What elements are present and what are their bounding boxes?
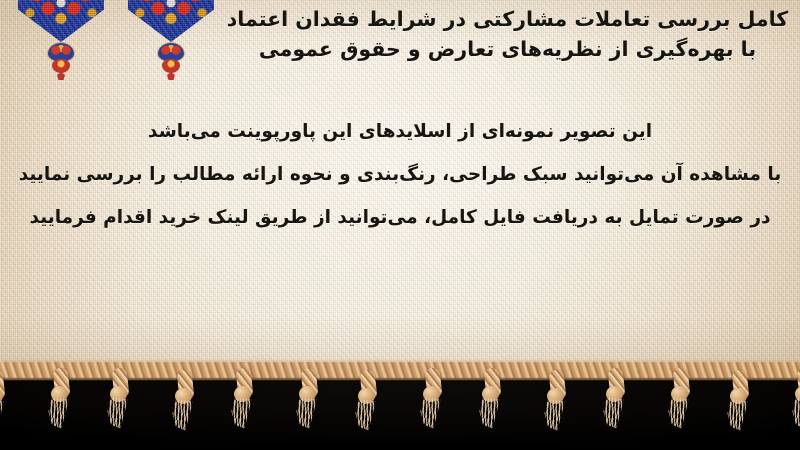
tassel-frayed-threads	[541, 399, 566, 431]
tassel-frayed-threads	[476, 397, 501, 429]
fringe-tassel	[793, 368, 800, 430]
fringe-tassel	[480, 368, 506, 430]
fringe-tassel	[0, 370, 10, 432]
tassel-frayed-threads	[600, 397, 625, 429]
slide-body: این تصویر نمونه‌ای از اسلایدهای این پاور…	[0, 110, 800, 239]
tassel-frayed-threads	[665, 397, 690, 429]
tassel-frayed-threads	[0, 399, 6, 431]
body-line-1: این تصویر نمونه‌ای از اسلایدهای این پاور…	[0, 110, 800, 153]
tassel-frayed-threads	[417, 397, 442, 429]
tassel-frayed-threads	[45, 397, 70, 429]
powerpoint-slide: کامل بررسی تعاملات مشارکتی در شرایط فقدا…	[0, 0, 800, 450]
tassel-frayed-threads	[169, 399, 194, 431]
fringe-tassel	[421, 368, 447, 430]
tassel-frayed-threads	[352, 399, 377, 431]
fringe-tassel	[728, 370, 754, 432]
fringe-tassel	[356, 370, 382, 432]
slide-title: کامل بررسی تعاملات مشارکتی در شرایط فقدا…	[225, 4, 790, 64]
fringe-tassel	[297, 368, 323, 430]
fringe-tassel	[545, 370, 571, 432]
fringe-tassel	[232, 368, 258, 430]
fringe-tassel	[108, 368, 134, 430]
body-line-2: با مشاهده آن می‌توانید سبک طراحی، رنگ‌بن…	[0, 153, 800, 196]
tassel-frayed-threads	[104, 397, 129, 429]
tassel-frayed-threads	[724, 399, 749, 431]
fringe-tassel	[49, 368, 75, 430]
fringe-tassel	[604, 368, 630, 430]
fringe-tassel	[669, 368, 695, 430]
body-line-3: در صورت تمایل به دریافت فایل کامل، می‌تو…	[0, 196, 800, 239]
tassel-frayed-threads	[293, 397, 318, 429]
tassel-frayed-threads	[228, 397, 253, 429]
fringe-tassel	[173, 370, 199, 432]
